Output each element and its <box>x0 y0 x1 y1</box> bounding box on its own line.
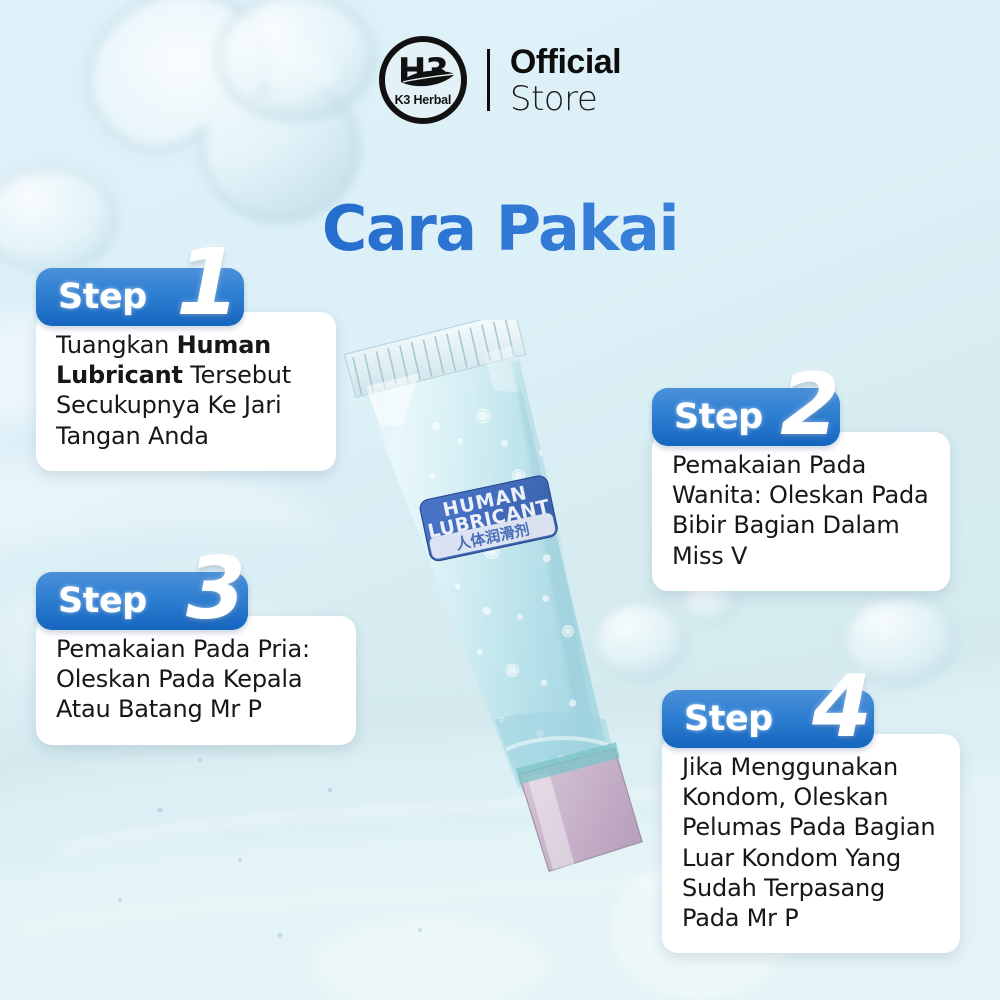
step-4-text: Jika Menggunakan Kondom, Oleskan Pelumas… <box>682 752 940 933</box>
brand-header: H3 K3 Herbal Official Store <box>0 36 1000 124</box>
step-3-badge: Step 3 <box>36 572 248 630</box>
step-1: Step 1 Tuangkan Human Lubricant Tersebut… <box>36 268 336 471</box>
step-1-text: Tuangkan Human Lubricant Tersebut Secuku… <box>56 330 316 451</box>
official-store-text: Official Store <box>510 45 621 116</box>
official-label: Official <box>510 45 621 79</box>
step-3-number: 3 <box>186 546 244 632</box>
step-2: Step 2 Pemakaian Pada Wanita: Oleskan Pa… <box>652 388 950 591</box>
step-1-badge: Step 1 <box>36 268 244 326</box>
step-3-label: Step <box>58 572 147 630</box>
header-divider <box>487 49 490 111</box>
leaf-icon <box>399 68 459 90</box>
step-4-card: Jika Menggunakan Kondom, Oleskan Pelumas… <box>662 734 960 953</box>
step-2-label: Step <box>674 388 763 446</box>
step-1-label: Step <box>58 268 147 326</box>
step-4-label: Step <box>684 690 773 748</box>
step-2-card: Pemakaian Pada Wanita: Oleskan Pada Bibi… <box>652 432 950 591</box>
step-3-text: Pemakaian Pada Pria: Oleskan Pada Kepala… <box>56 634 336 725</box>
step-4-badge: Step 4 <box>662 690 874 748</box>
step-4: Step 4 Jika Menggunakan Kondom, Oleskan … <box>662 690 960 953</box>
step-4-number: 4 <box>812 664 870 750</box>
page-title: Cara Pakai <box>0 192 1000 265</box>
step-3: Step 3 Pemakaian Pada Pria: Oleskan Pada… <box>36 572 356 745</box>
step-2-badge: Step 2 <box>652 388 840 446</box>
k3-herbal-logo-icon: H3 K3 Herbal <box>379 36 467 124</box>
store-label: Store <box>510 82 621 116</box>
product-image-human-lubricant-tube: HUMAN LUBRICANT 人体润滑剂 <box>330 320 660 950</box>
step-2-text: Pemakaian Pada Wanita: Oleskan Pada Bibi… <box>672 450 930 571</box>
logo-brand-text: K3 Herbal <box>385 93 461 107</box>
step-2-number: 2 <box>780 362 838 448</box>
